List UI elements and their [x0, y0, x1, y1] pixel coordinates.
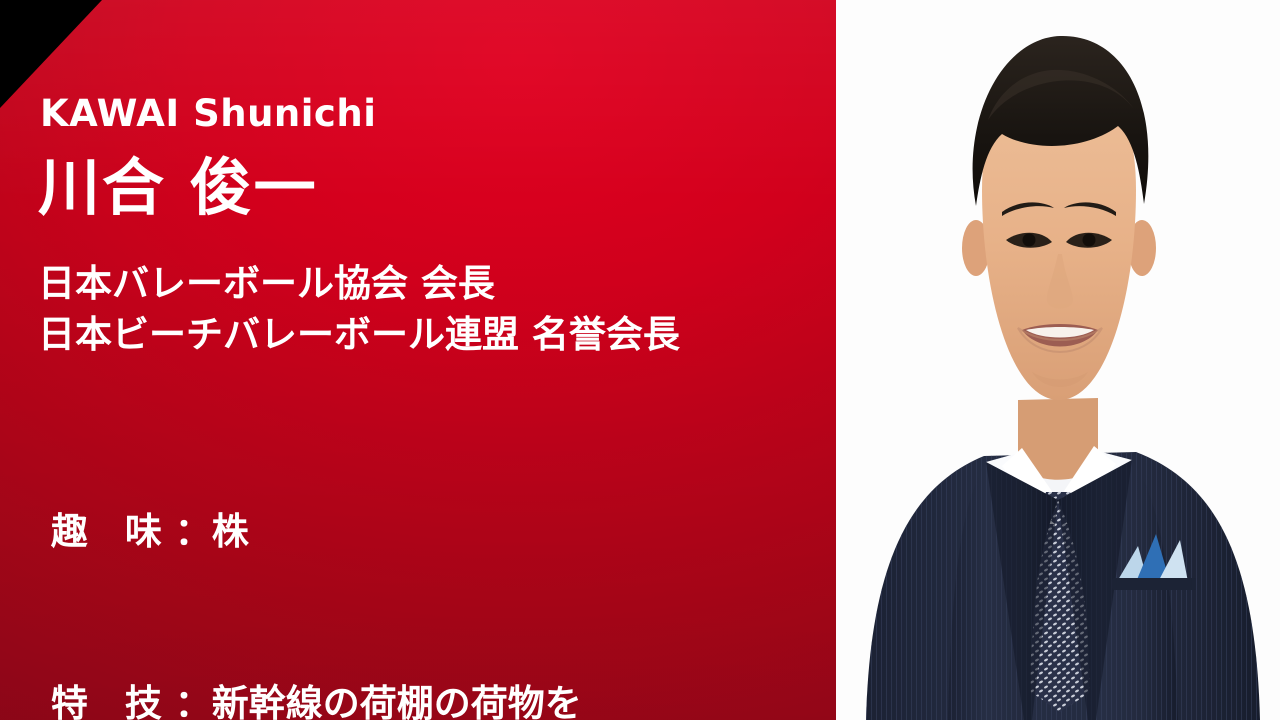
portrait-photo	[836, 0, 1280, 720]
organization-list: 日本バレーボール協会 会長 日本ビーチバレーボール連盟 名誉会長	[38, 258, 680, 360]
profile-detail-list: 趣 味 ：株 特 技 ：新幹線の荷棚の荷物を 座ったまま取る 得意料理 ：キムチ…	[38, 388, 582, 720]
latin-name: KAWAI Shunichi	[40, 95, 376, 132]
organization-line: 日本バレーボール協会 会長	[38, 258, 680, 309]
japanese-name: 川合 俊一	[38, 155, 318, 220]
profile-text-block: KAWAI Shunichi 川合 俊一 日本バレーボール協会 会長 日本ビーチ…	[0, 0, 836, 720]
slide-canvas: KAWAI Shunichi 川合 俊一 日本バレーボール協会 会長 日本ビーチ…	[0, 0, 1280, 720]
profile-line-skill: 特 技 ：新幹線の荷棚の荷物を	[38, 675, 582, 720]
organization-line: 日本ビーチバレーボール連盟 名誉会長	[38, 309, 680, 360]
profile-line-hobby: 趣 味 ：株	[38, 503, 582, 560]
